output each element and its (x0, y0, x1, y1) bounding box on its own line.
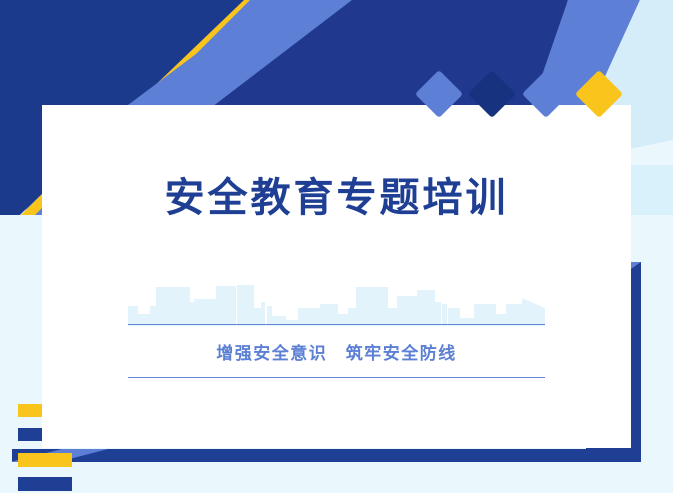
corner-bar-3 (18, 453, 72, 467)
corner-bar-4 (18, 477, 72, 491)
content-card (42, 105, 631, 448)
subtitle-rule-bottom (128, 377, 545, 378)
slide-subtitle: 增强安全意识 筑牢安全防线 (128, 325, 545, 377)
diamond-icon-2 (468, 70, 516, 118)
slide-title: 安全教育专题培训 (42, 175, 631, 221)
bottom-strip (0, 462, 673, 493)
subtitle-rule-top (128, 324, 545, 325)
subtitle-block: 增强安全意识 筑牢安全防线 (128, 278, 545, 378)
corner-bars-decoration (18, 404, 88, 484)
corner-bar-1 (18, 404, 42, 417)
title-block: 安全教育专题培训 (42, 175, 631, 221)
diamond-decoration-row (418, 68, 618, 120)
diamond-icon-3 (522, 70, 570, 118)
city-skyline-illustration (128, 278, 545, 326)
corner-bar-2 (18, 428, 42, 441)
presentation-slide: 安全教育专题培训 (0, 0, 673, 493)
diamond-icon-4 (575, 70, 623, 118)
diamond-icon-1 (415, 70, 463, 118)
foot-left-trim (0, 449, 12, 463)
